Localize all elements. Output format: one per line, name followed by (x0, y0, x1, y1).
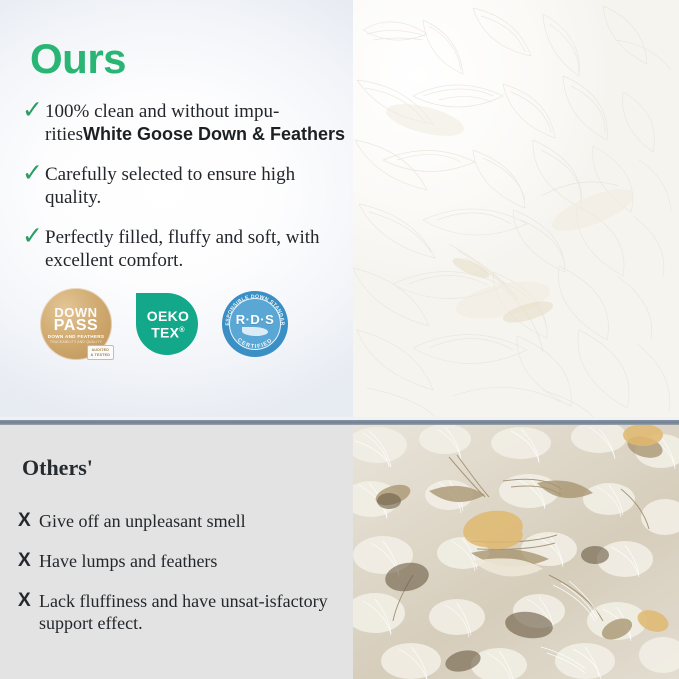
check-icon: ✓ (22, 99, 44, 121)
svg-text:CERTIFIED: CERTIFIED (236, 337, 274, 350)
others-bullet-text-1: Give off an unpleasant smell (39, 510, 353, 532)
ours-bullet-text-3: Perfectly filled, fluffy and soft, with … (45, 226, 352, 272)
others-bullet-text-2: Have lumps and feathers (39, 550, 353, 572)
check-icon: ✓ (22, 225, 44, 247)
ours-bullet-text-2: Carefully selected to ensure high qualit… (45, 163, 352, 209)
list-item: ✓ Perfectly filled, fluffy and soft, wit… (22, 226, 352, 272)
ours-bullet-list: ✓ 100% clean and without impu-ritiesWhit… (22, 100, 352, 289)
cross-icon: X (18, 510, 39, 532)
list-item: ✓ Carefully selected to ensure high qual… (22, 163, 352, 209)
oeko-line2: TEX® (147, 323, 189, 341)
ours-title: Ours (30, 38, 126, 80)
others-title: Others' (22, 457, 93, 479)
downpass-tag-line2: & TESTED (91, 353, 110, 357)
cross-icon: X (18, 590, 39, 612)
oeko-line1: OEKO (147, 309, 189, 323)
list-item: X Have lumps and feathers (18, 550, 353, 572)
list-item: X Give off an unpleasant smell (18, 510, 353, 532)
downpass-line1: DOWN (54, 307, 97, 318)
rds-badge-icon: RESPONSIBLE DOWN STANDARD CERTIFIED R·D·… (222, 291, 288, 357)
list-item: X Lack fluffiness and have unsat-isfacto… (18, 590, 353, 634)
ours-bullet-text-1: 100% clean and without impu-ritiesWhite … (45, 100, 352, 146)
downpass-line2: PASS (54, 318, 98, 333)
oeko-tex-badge-icon: OEKO TEX® (136, 293, 198, 355)
cross-icon: X (18, 550, 39, 572)
clean-down-photo (353, 0, 679, 420)
downpass-audit-tag: AUDITED & TESTED (87, 345, 114, 360)
downpass-badge-icon: DOWN PASS DOWN AND FEATHERS TRACEABILITY… (40, 288, 112, 360)
others-panel: Others' X Give off an unpleasant smell X… (0, 425, 353, 679)
others-bullet-list: X Give off an unpleasant smell X Have lu… (18, 510, 353, 652)
downpass-tag-line1: AUDITED (91, 348, 110, 352)
others-bullet-text-3: Lack fluffiness and have unsat-isfactory… (39, 590, 353, 634)
list-item: ✓ 100% clean and without impu-ritiesWhit… (22, 100, 352, 146)
ours-panel: Ours ✓ 100% clean and without impu-ritie… (0, 0, 353, 420)
svg-text:RESPONSIBLE DOWN STANDARD: RESPONSIBLE DOWN STANDARD (222, 291, 285, 326)
dirty-down-photo (353, 425, 679, 679)
comparison-board: Ours ✓ 100% clean and without impu-ritie… (0, 0, 679, 679)
certification-badges: DOWN PASS DOWN AND FEATHERS TRACEABILITY… (40, 288, 288, 360)
check-icon: ✓ (22, 162, 44, 184)
